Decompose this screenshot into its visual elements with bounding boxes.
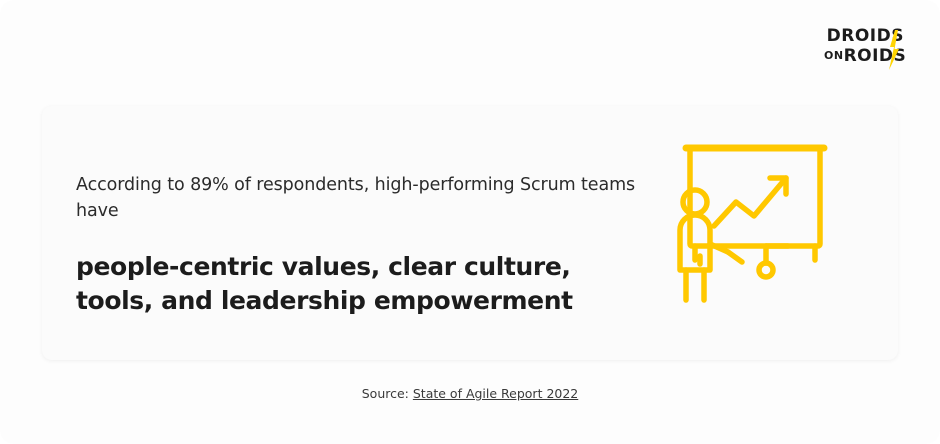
intro-paragraph: According to 89% of respondents, high-pe… [76, 172, 636, 224]
logo-word-on: ON [824, 49, 844, 62]
quote-card: According to 89% of respondents, high-pe… [42, 106, 898, 360]
headline-paragraph: people-centric values, clear culture, to… [76, 250, 636, 318]
slide-canvas: DROIDS ONROIDS According to 89% of respo… [0, 0, 940, 444]
logo-line-top: DROIDS [824, 26, 904, 46]
droids-on-roids-logo[interactable]: DROIDS ONROIDS [824, 26, 904, 72]
source-link[interactable]: State of Agile Report 2022 [413, 386, 578, 401]
card-text-block: According to 89% of respondents, high-pe… [76, 172, 636, 318]
person-presenting-growth-chart-icon [662, 140, 852, 330]
source-caption: Source: State of Agile Report 2022 [0, 386, 940, 401]
source-prefix: Source: [362, 386, 413, 401]
logo-word-droids: DROIDS [827, 26, 904, 46]
logo-line-bottom: ONROIDS [824, 46, 904, 66]
logo-word-roids: ROIDS [844, 46, 907, 66]
